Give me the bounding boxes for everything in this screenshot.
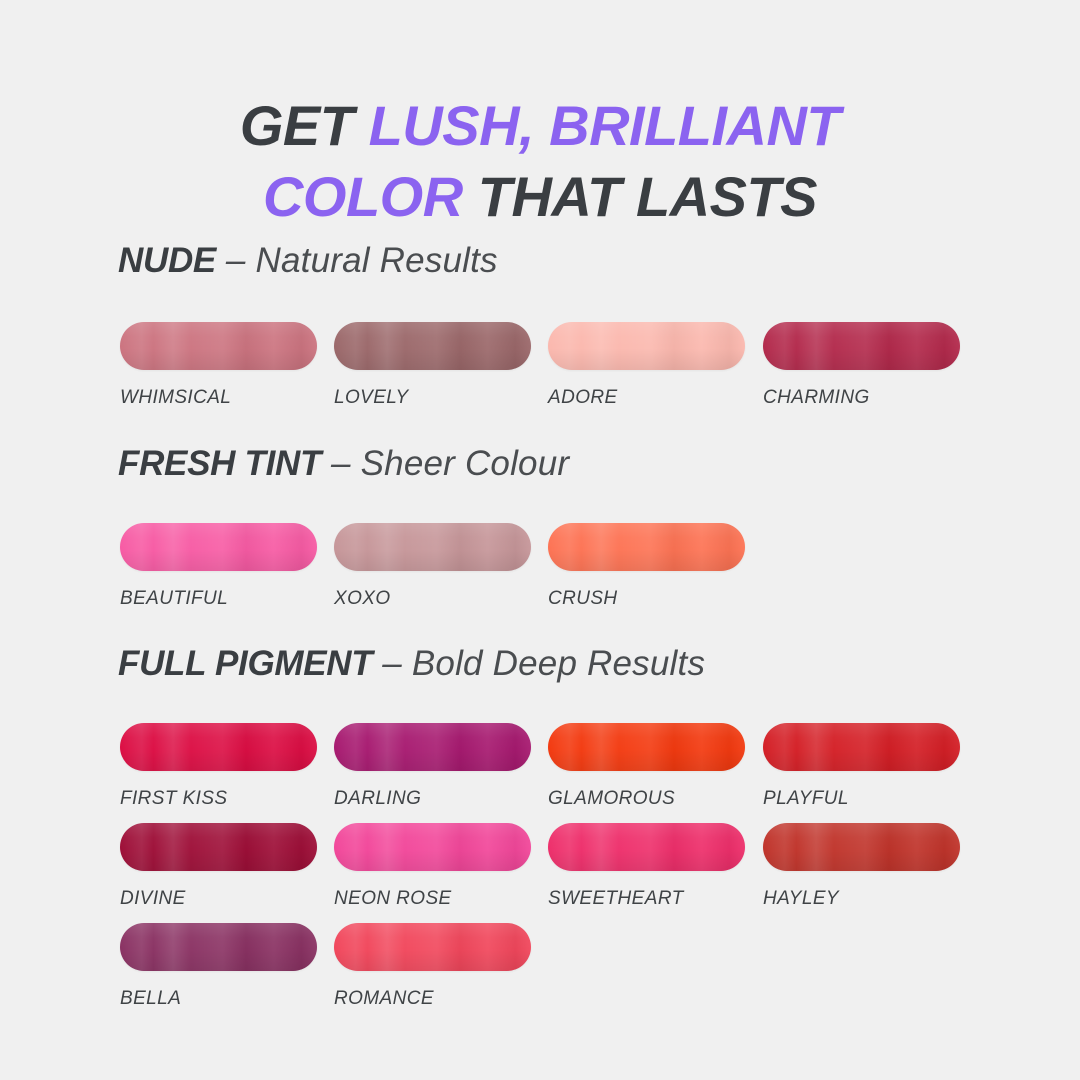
section-header-nude: NUDE – Natural Results	[118, 243, 498, 278]
page-title-line-2: COLOR THAT LASTS	[0, 161, 1080, 233]
color-swatch[interactable]	[120, 523, 317, 571]
swatch-cell[interactable]: NEON ROSE	[334, 823, 531, 910]
section-subtitle-full-pigment: – Bold Deep Results	[372, 644, 705, 683]
swatch-cell[interactable]: DARLING	[334, 723, 531, 810]
swatch-cell[interactable]: HAYLEY	[763, 823, 960, 910]
swatch-label: DIVINE	[120, 888, 317, 910]
page-title-line-1: GET LUSH, BRILLIANT	[0, 90, 1080, 162]
swatch-label: ROMANCE	[334, 988, 531, 1010]
swatch-label: XOXO	[334, 588, 531, 610]
section-name-nude: NUDE	[118, 241, 216, 280]
swatch-cell[interactable]: DIVINE	[120, 823, 317, 910]
color-swatch[interactable]	[763, 723, 960, 771]
swatch-label: DARLING	[334, 788, 531, 810]
swatch-label: FIRST KISS	[120, 788, 317, 810]
swatch-label: BELLA	[120, 988, 317, 1010]
swatch-label: WHIMSICAL	[120, 387, 317, 409]
swatch-label: CHARMING	[763, 387, 960, 409]
swatch-label: BEAUTIFUL	[120, 588, 317, 610]
page-title-get: GET	[240, 94, 369, 157]
swatch-label: HAYLEY	[763, 888, 960, 910]
lipstick-shade-chart: GET LUSH, BRILLIANT COLOR THAT LASTS NUD…	[0, 0, 1080, 1080]
swatch-cell[interactable]: XOXO	[334, 523, 531, 610]
section-name-full-pigment: FULL PIGMENT	[118, 644, 372, 683]
section-subtitle-fresh-tint: – Sheer Colour	[321, 444, 569, 483]
swatch-cell[interactable]: PLAYFUL	[763, 723, 960, 810]
swatch-label: SWEETHEART	[548, 888, 745, 910]
color-swatch[interactable]	[334, 322, 531, 370]
page-title-color: COLOR	[263, 165, 463, 228]
color-swatch[interactable]	[548, 723, 745, 771]
swatch-label: ADORE	[548, 387, 745, 409]
swatch-label: LOVELY	[334, 387, 531, 409]
swatch-cell[interactable]: SWEETHEART	[548, 823, 745, 910]
swatch-cell[interactable]: ADORE	[548, 322, 745, 409]
swatch-cell[interactable]: CRUSH	[548, 523, 745, 610]
swatch-cell[interactable]: ROMANCE	[334, 923, 531, 1010]
section-header-full-pigment: FULL PIGMENT – Bold Deep Results	[118, 646, 705, 681]
color-swatch[interactable]	[548, 322, 745, 370]
swatch-row-full-pigment-1: FIRST KISS DARLING GLAMOROUS PLAYFUL	[120, 723, 1060, 815]
swatch-label: NEON ROSE	[334, 888, 531, 910]
section-title-fresh-tint: FRESH TINT – Sheer Colour	[118, 446, 569, 481]
swatch-cell[interactable]: LOVELY	[334, 322, 531, 409]
swatch-cell[interactable]: CHARMING	[763, 322, 960, 409]
swatch-cell[interactable]: BEAUTIFUL	[120, 523, 317, 610]
section-header-fresh-tint: FRESH TINT – Sheer Colour	[118, 446, 569, 481]
section-title-nude: NUDE – Natural Results	[118, 243, 498, 278]
color-swatch[interactable]	[763, 823, 960, 871]
swatch-row-nude-1: WHIMSICAL LOVELY ADORE CHARMING	[120, 322, 1060, 414]
color-swatch[interactable]	[548, 523, 745, 571]
color-swatch[interactable]	[120, 723, 317, 771]
section-subtitle-nude: – Natural Results	[216, 241, 498, 280]
swatch-cell[interactable]: FIRST KISS	[120, 723, 317, 810]
color-swatch[interactable]	[334, 923, 531, 971]
page-title: GET LUSH, BRILLIANT COLOR THAT LASTS	[0, 90, 1080, 233]
swatch-label: PLAYFUL	[763, 788, 960, 810]
color-swatch[interactable]	[120, 322, 317, 370]
color-swatch[interactable]	[334, 523, 531, 571]
color-swatch[interactable]	[334, 823, 531, 871]
swatch-cell[interactable]: BELLA	[120, 923, 317, 1010]
color-swatch[interactable]	[548, 823, 745, 871]
section-title-full-pigment: FULL PIGMENT – Bold Deep Results	[118, 646, 705, 681]
swatch-cell[interactable]: GLAMOROUS	[548, 723, 745, 810]
section-name-fresh-tint: FRESH TINT	[118, 444, 321, 483]
page-title-that-lasts: THAT LASTS	[463, 165, 817, 228]
swatch-label: GLAMOROUS	[548, 788, 745, 810]
swatch-row-full-pigment-2: DIVINE NEON ROSE SWEETHEART HAYLEY	[120, 823, 1060, 915]
swatch-cell[interactable]: WHIMSICAL	[120, 322, 317, 409]
swatch-row-full-pigment-3: BELLA ROMANCE	[120, 923, 1060, 1015]
page-title-lush-brilliant: LUSH, BRILLIANT	[369, 94, 841, 157]
color-swatch[interactable]	[120, 823, 317, 871]
color-swatch[interactable]	[120, 923, 317, 971]
color-swatch[interactable]	[334, 723, 531, 771]
swatch-row-fresh-tint-1: BEAUTIFUL XOXO CRUSH	[120, 523, 1060, 615]
color-swatch[interactable]	[763, 322, 960, 370]
swatch-label: CRUSH	[548, 588, 745, 610]
